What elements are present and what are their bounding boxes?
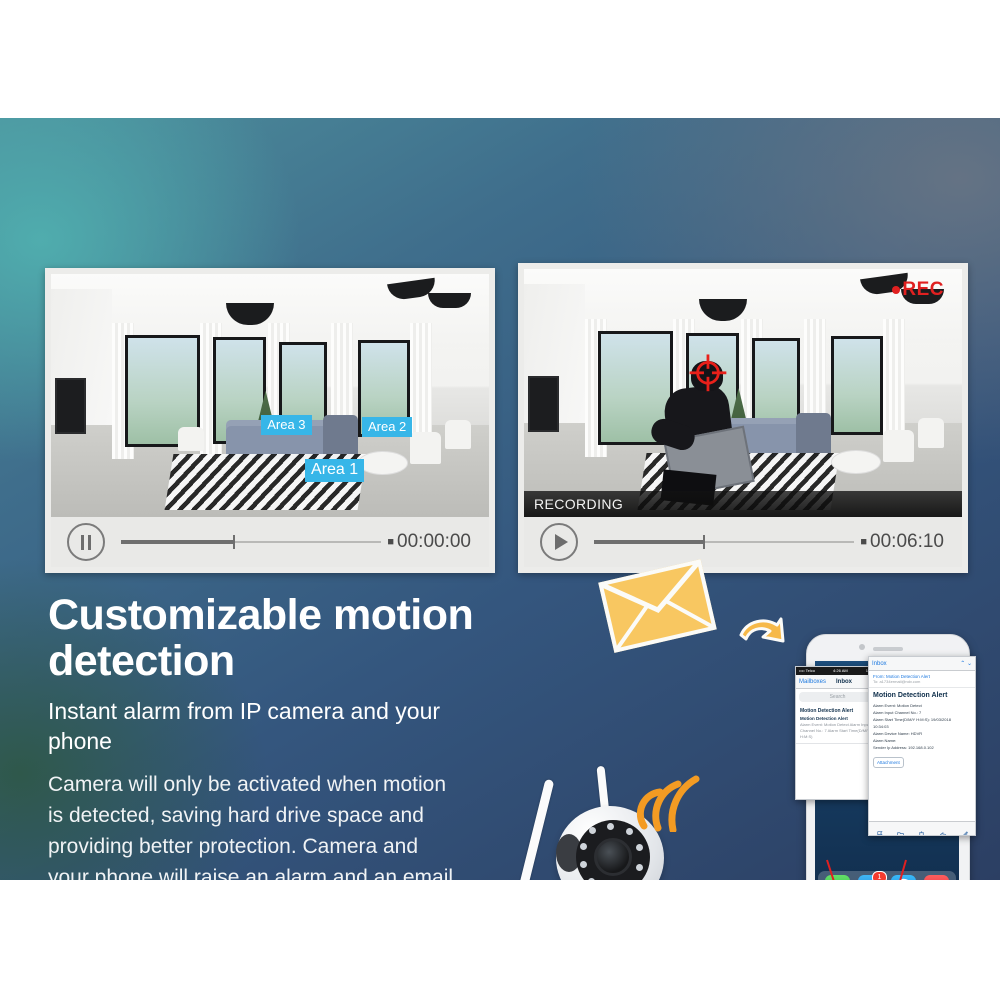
recording-label: RECORDING: [524, 496, 623, 512]
antenna-left: [515, 779, 555, 880]
attachment-chip[interactable]: Attachment: [873, 757, 904, 768]
message-navbar: Inbox ⌃ ⌄: [869, 657, 975, 671]
player-controls-left[interactable]: ■00:00:00: [51, 517, 489, 567]
chevron-up-down-icon[interactable]: ⌃ ⌄: [960, 660, 972, 667]
mail-message-window[interactable]: Inbox ⌃ ⌄ From: Motion Detection Alert T…: [868, 656, 976, 836]
message-line: Alarm Name:: [869, 737, 975, 744]
video-player-left[interactable]: Area 3 Area 2 Area 1 ■00:00:00: [45, 268, 495, 573]
mail-subject: Motion Detection Alert: [800, 716, 875, 723]
camera-lens-icon: [594, 838, 632, 876]
safari-icon[interactable]: [891, 875, 916, 881]
message-line: Sender Ip Address: 192.168.0.102: [869, 744, 975, 751]
video-player-right[interactable]: REC RECORDING ■00:06:10: [518, 263, 968, 573]
trash-icon[interactable]: [918, 825, 925, 832]
back-to-inbox-button[interactable]: Inbox: [872, 661, 887, 667]
progress-slider-right[interactable]: [594, 535, 854, 549]
intruder-figure: [655, 361, 760, 500]
video-screen-right: REC RECORDING: [524, 269, 962, 517]
curved-arrow-icon: [737, 615, 785, 659]
envelope-icon: [598, 559, 717, 653]
face-detection-target-icon: [688, 352, 728, 394]
ios-dock[interactable]: Phone 1 Mail: [818, 871, 956, 880]
recording-status-bar: RECORDING: [524, 491, 962, 517]
wifi-waves-icon: [636, 774, 702, 832]
player-controls-right[interactable]: ■00:06:10: [524, 517, 962, 567]
banner-background: Area 3 Area 2 Area 1 ■00:00:00: [0, 118, 1000, 880]
front-camera-icon: [859, 644, 865, 650]
message-line: Alarm Device Name: HDVR: [869, 730, 975, 737]
mail-sender: Motion Detection Alert: [800, 708, 875, 716]
message-to: To: a1734ermail@ndv.com: [869, 679, 975, 688]
rec-indicator: REC: [892, 279, 944, 301]
pause-icon[interactable]: [67, 523, 105, 561]
play-icon[interactable]: [540, 523, 578, 561]
timecode-left: ■00:00:00: [387, 531, 489, 553]
timecode-right: ■00:06:10: [860, 531, 962, 553]
inbox-title: Inbox: [836, 679, 852, 685]
app-phone[interactable]: Phone: [825, 875, 850, 881]
compose-icon[interactable]: [961, 825, 968, 832]
living-room-scene: [51, 274, 489, 517]
app-mail[interactable]: 1 Mail: [858, 875, 883, 881]
area-tag-3[interactable]: Area 3: [261, 415, 311, 435]
inbox-navbar: Mailboxes Inbox: [796, 675, 879, 689]
subtitle: Instant alarm from IP camera and your ph…: [48, 696, 468, 757]
folder-icon[interactable]: [897, 825, 904, 832]
message-line: 10:34:03: [869, 723, 975, 730]
mail-preview: Alarm Event: Motion Detect Alarm Input C…: [800, 722, 875, 740]
music-icon[interactable]: [924, 875, 949, 881]
earpiece-speaker: [873, 647, 903, 651]
status-bar: •••• Telco 4:26 AM 100%: [796, 667, 879, 675]
mail-icon[interactable]: 1: [858, 875, 883, 881]
message-line: Alarm Input Channel No.: 7: [869, 709, 975, 716]
video-screen-left: Area 3 Area 2 Area 1: [51, 274, 489, 517]
app-music[interactable]: Music: [924, 875, 949, 881]
list-item[interactable]: Motion Detection Alert Motion Detection …: [796, 705, 879, 744]
search-input[interactable]: Search: [799, 692, 876, 702]
message-title: Motion Detection Alert: [869, 688, 975, 702]
area-tag-2[interactable]: Area 2: [362, 417, 412, 437]
product-banner-image: Area 3 Area 2 Area 1 ■00:00:00: [0, 0, 1000, 1000]
reply-icon[interactable]: [940, 825, 947, 832]
progress-slider-left[interactable]: [121, 535, 381, 549]
message-line: Alarm Event: Motion Detect: [869, 702, 975, 709]
app-safari[interactable]: Safari: [891, 875, 916, 881]
message-line: Alarm Start Time(D/M/Y H:M:S): 19/03/201…: [869, 716, 975, 723]
mail-badge: 1: [872, 871, 887, 881]
description-text: Camera will only be activated when motio…: [48, 770, 458, 880]
area-tag-1[interactable]: Area 1: [305, 459, 364, 482]
message-from: From: Motion Detection Alert: [869, 671, 975, 679]
mail-toolbar[interactable]: [869, 821, 975, 835]
flag-icon[interactable]: [876, 825, 883, 832]
page-title: Customizable motion detection: [48, 592, 518, 684]
back-to-mailboxes-button[interactable]: Mailboxes: [799, 679, 826, 685]
phone-icon[interactable]: [825, 875, 850, 881]
